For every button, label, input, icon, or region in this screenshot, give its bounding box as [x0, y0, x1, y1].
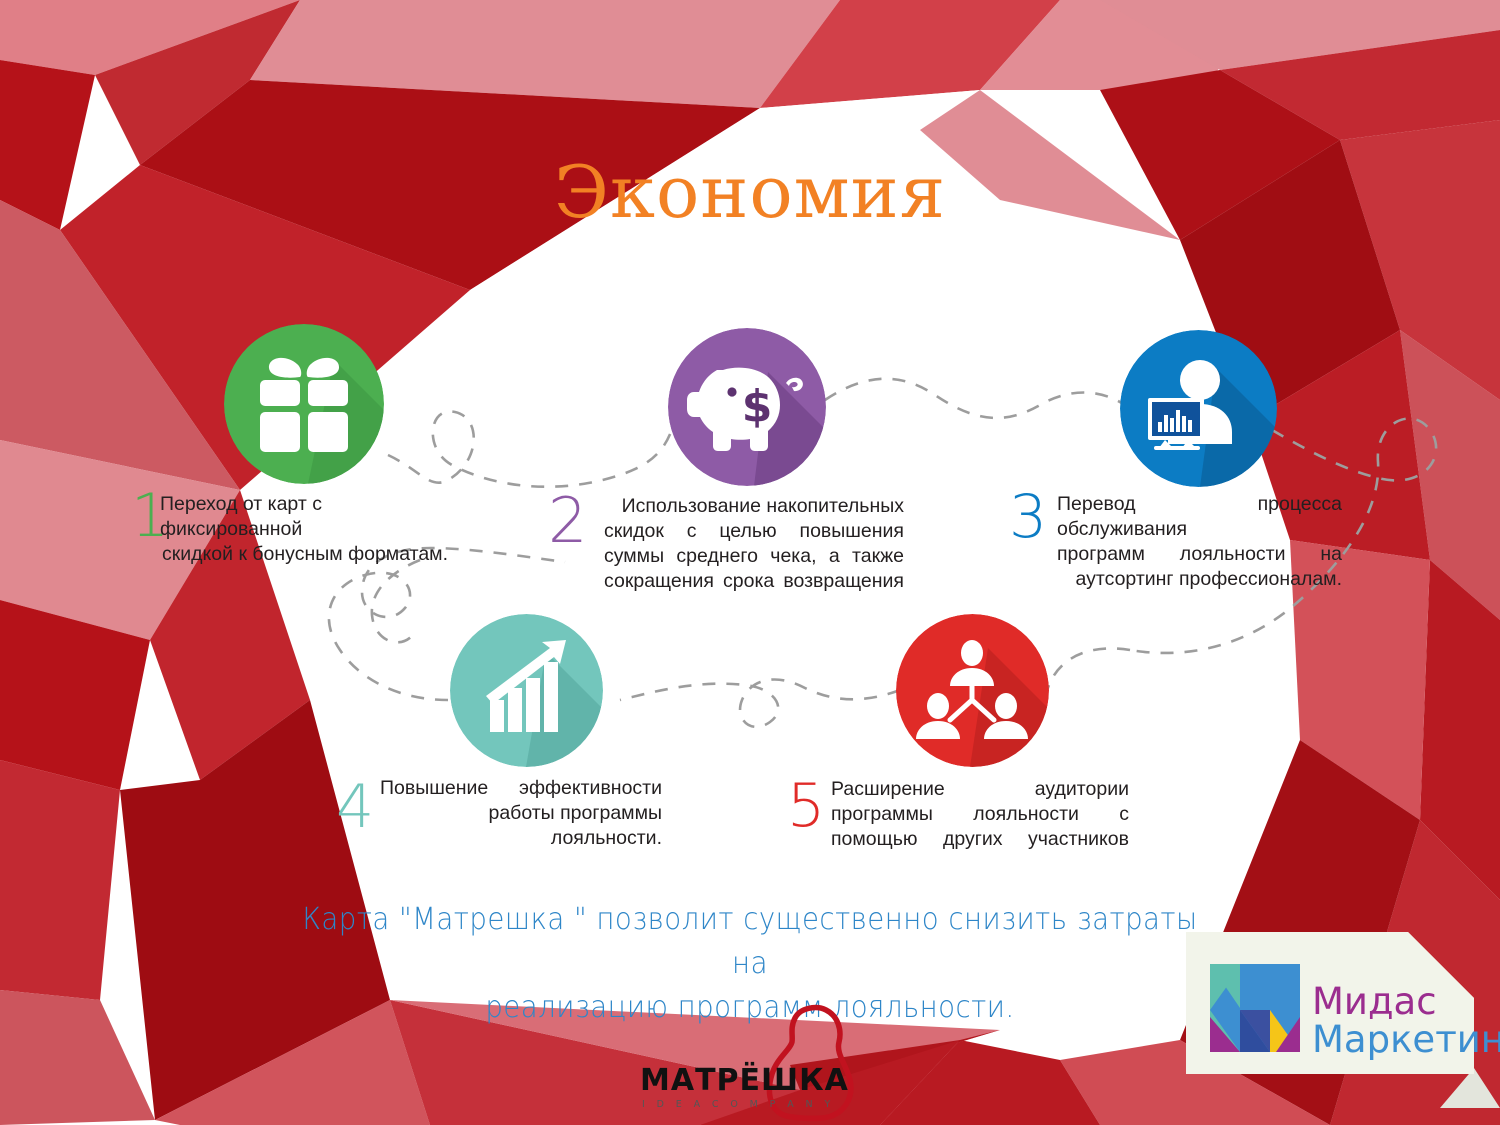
step-number-5: 5	[787, 776, 825, 836]
matreshka-name: МАТРЁШКА	[640, 1062, 849, 1098]
step-line: аутсортинг профессионалам.	[1057, 567, 1342, 592]
step-line: работы программы лояльности.	[380, 801, 662, 851]
matreshka-logo: МАТРЁШКА I D E A C O M P A N Y	[620, 1002, 880, 1125]
step-line: программ лояльности на	[1057, 542, 1342, 567]
step-line: скидкой к бонусным форматам.	[160, 542, 450, 567]
step-icon-growth-chart-icon[interactable]	[450, 614, 603, 767]
step-line: скидок с целью повышения	[604, 519, 904, 544]
step-icon-gift-box-icon[interactable]	[224, 324, 384, 484]
matreshka-tagline: I D E A C O M P A N Y	[642, 1099, 835, 1110]
step-line: суммы среднего чека, а также	[604, 544, 904, 569]
step-icon-piggy-bank-icon[interactable]: $	[668, 328, 826, 486]
step-icon-presenter-chart-icon[interactable]	[1120, 330, 1277, 487]
tagline-line-1: Карта "Матрешка " позволит существенно с…	[290, 898, 1210, 986]
step-number-2: 2	[548, 490, 587, 552]
step-line: Использование накопительных	[604, 494, 904, 519]
step-text-5: Расширение аудитории программы лояльност…	[831, 777, 1129, 852]
midas-marketing-logo-card: Мидас Маркетинг	[1178, 922, 1500, 1108]
slide-root: Экономия $	[0, 0, 1500, 1125]
step-line: программы лояльности с	[831, 802, 1129, 827]
step-text-3: Перевод процесса обслуживания программ л…	[1057, 492, 1342, 592]
svg-text:$: $	[742, 381, 773, 432]
step-text-4: Повышение эффективности работы программы…	[380, 776, 662, 851]
midas-line-1: Мидас	[1312, 980, 1437, 1023]
step-icon-people-network-icon[interactable]	[896, 614, 1049, 767]
step-line: помощью других участников	[831, 827, 1129, 852]
step-line: сокращения срока возвращения	[604, 569, 904, 594]
step-line: Переход от карт с фиксированной	[160, 492, 450, 542]
step-line: Повышение эффективности	[380, 776, 662, 801]
midas-line-2: Маркетинг	[1312, 1018, 1500, 1061]
step-number-3: 3	[1009, 487, 1047, 547]
step-number-4: 4	[336, 777, 374, 837]
step-line: Расширение аудитории	[831, 777, 1129, 802]
page-title: Экономия	[0, 150, 1500, 234]
step-text-1: Переход от карт с фиксированной скидкой …	[160, 492, 450, 567]
step-line: Перевод процесса обслуживания	[1057, 492, 1342, 542]
step-text-2: Использование накопительных скидок с цел…	[604, 494, 904, 594]
